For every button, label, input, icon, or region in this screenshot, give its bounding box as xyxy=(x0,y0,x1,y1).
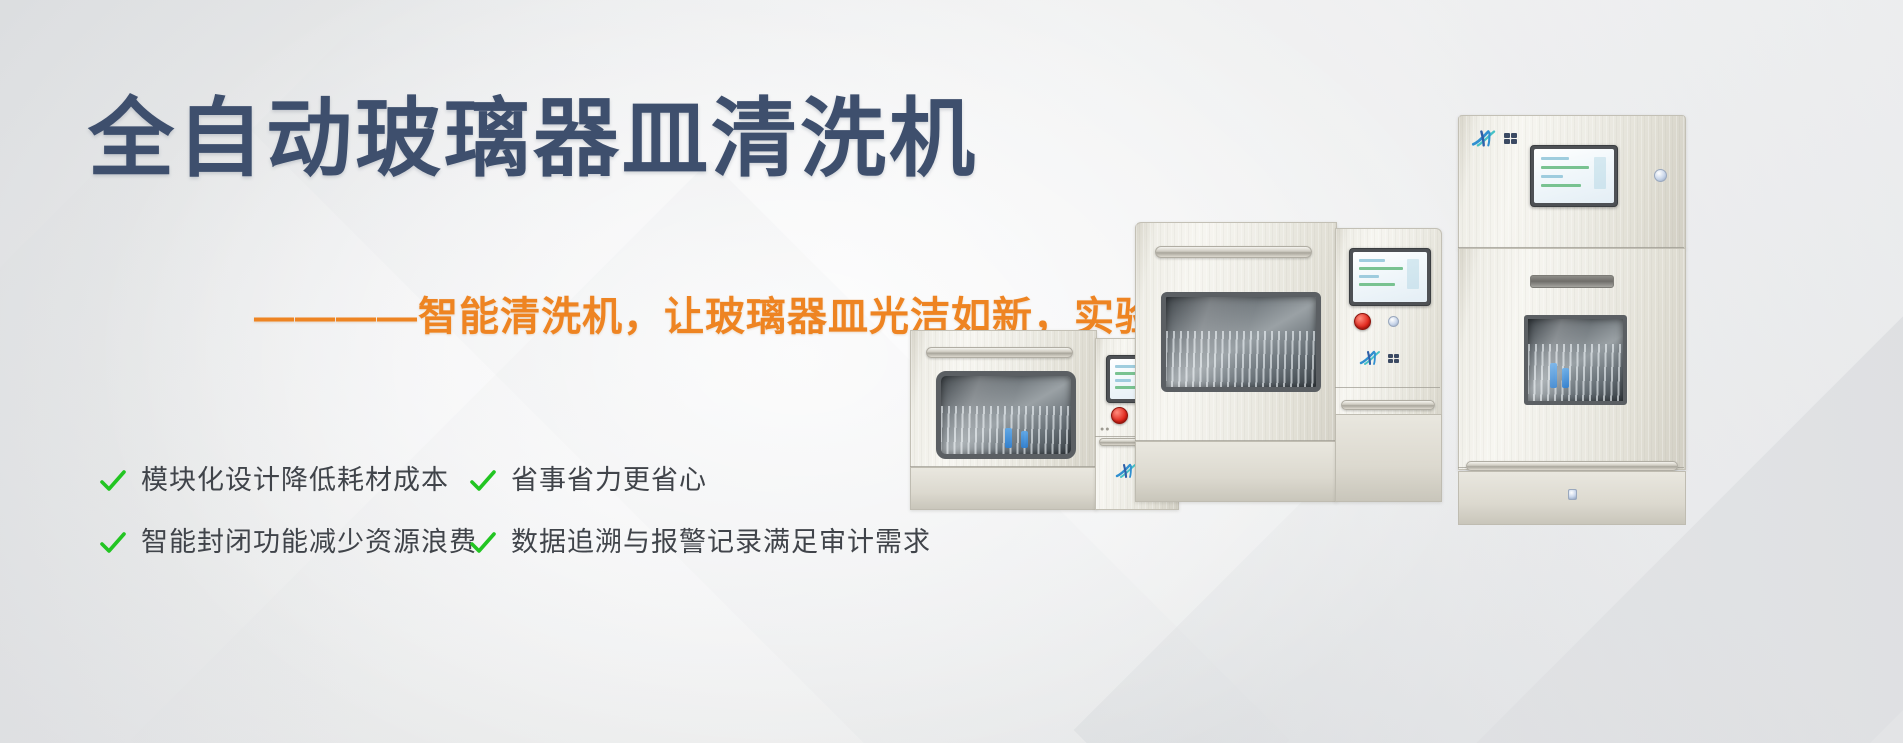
chamber-door-handle-slot xyxy=(1530,275,1614,288)
power-indicator-button[interactable] xyxy=(1654,169,1667,182)
feature-label: 模块化设计降低耗材成本 xyxy=(141,467,449,494)
chamber-viewing-window xyxy=(1524,315,1627,405)
machine-caster xyxy=(1411,498,1429,520)
chamber-door-handle xyxy=(926,347,1073,358)
check-icon xyxy=(98,466,128,496)
brand-wordmark xyxy=(1504,133,1517,144)
check-icon xyxy=(98,528,128,558)
machine-caster xyxy=(1468,521,1486,543)
touchscreen-display xyxy=(1353,252,1427,302)
control-touchscreen[interactable] xyxy=(1530,145,1618,207)
touchscreen-display xyxy=(1534,149,1614,203)
machine-caster xyxy=(1654,521,1672,543)
control-panel-marking: ●● xyxy=(1100,426,1110,433)
product-image-freestanding-glassware-washer xyxy=(1135,222,1465,522)
machine-caster xyxy=(927,506,945,528)
chamber-lower-panel xyxy=(910,467,1097,510)
feature-label: 省事省力更省心 xyxy=(511,467,707,494)
feature-item: 模块化设计降低耗材成本 xyxy=(98,465,468,495)
check-icon xyxy=(468,466,498,496)
control-touchscreen[interactable] xyxy=(1349,248,1431,306)
chamber-viewing-window xyxy=(936,371,1076,459)
brand-logo xyxy=(1471,129,1517,148)
tower-lower-panel xyxy=(1335,414,1442,502)
feature-item: 智能封闭功能减少资源浪费 xyxy=(98,527,468,557)
brand-h-mark xyxy=(1471,129,1501,148)
brand-h-mark xyxy=(1359,350,1385,366)
product-image-group: ●● xyxy=(880,0,1903,743)
product-image-tall-column-glassware-washer xyxy=(1458,115,1698,523)
brand-logo xyxy=(1359,350,1399,366)
chamber-door-handle xyxy=(1155,246,1312,258)
tower-lower-handle xyxy=(1341,400,1435,410)
chamber-viewing-window xyxy=(1161,292,1321,392)
lower-door-latch[interactable] xyxy=(1568,489,1577,500)
lower-door-handle xyxy=(1466,461,1678,471)
chamber-lower-panel xyxy=(1135,441,1337,502)
hero-banner: 全自动玻璃器皿清洗机 ————智能清洗机，让玻璃器皿光洁如新，实验无忧！ 模块化… xyxy=(0,0,1903,743)
emergency-stop-button[interactable] xyxy=(1111,407,1128,424)
power-indicator-button[interactable] xyxy=(1388,316,1399,327)
feature-label: 数据追溯与报警记录满足审计需求 xyxy=(511,529,931,556)
emergency-stop-button[interactable] xyxy=(1354,313,1371,330)
machine-caster xyxy=(1058,506,1076,528)
banner-headline: 全自动玻璃器皿清洗机 xyxy=(88,96,978,184)
brand-wordmark xyxy=(1388,354,1399,363)
check-icon xyxy=(468,528,498,558)
machine-caster xyxy=(1155,498,1173,520)
machine-caster xyxy=(1295,498,1313,520)
feature-label: 智能封闭功能减少资源浪费 xyxy=(141,529,477,556)
